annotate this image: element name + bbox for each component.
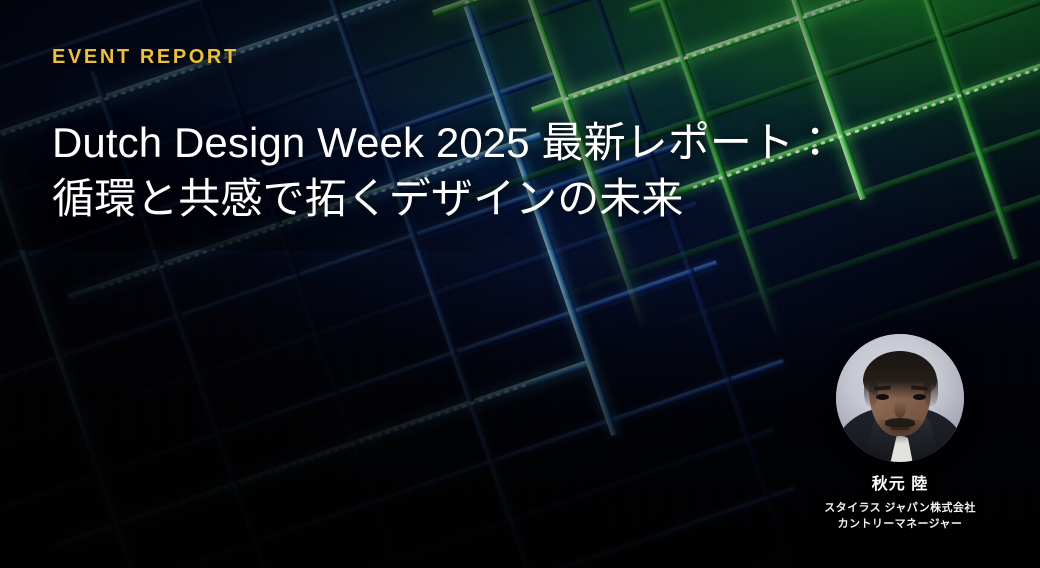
author-role: カントリーマネージャー [805, 516, 995, 532]
headline-line-1: Dutch Design Week 2025 最新レポート： [52, 115, 912, 171]
hero-content: EVENT REPORT Dutch Design Week 2025 最新レポ… [0, 0, 1040, 568]
avatar-moustache [885, 418, 915, 427]
avatar-eye-left [876, 394, 889, 400]
page-title: Dutch Design Week 2025 最新レポート： 循環と共感で拓くデ… [52, 115, 912, 227]
headline-line-2: 循環と共感で拓くデザインの未来 [52, 171, 912, 227]
event-report-hero: EVENT REPORT Dutch Design Week 2025 最新レポ… [0, 0, 1040, 568]
author-organization: スタイラス ジャパン株式会社 [805, 500, 995, 516]
avatar [836, 334, 964, 462]
avatar-eye-right [913, 394, 926, 400]
avatar-nose [895, 402, 906, 418]
author-name: 秋元 陸 [805, 470, 995, 494]
eyebrow-label: EVENT REPORT [52, 46, 239, 69]
avatar-mouth [891, 427, 910, 430]
author-byline: 秋元 陸 スタイラス ジャパン株式会社 カントリーマネージャー [805, 334, 995, 532]
avatar-portrait [836, 334, 964, 462]
